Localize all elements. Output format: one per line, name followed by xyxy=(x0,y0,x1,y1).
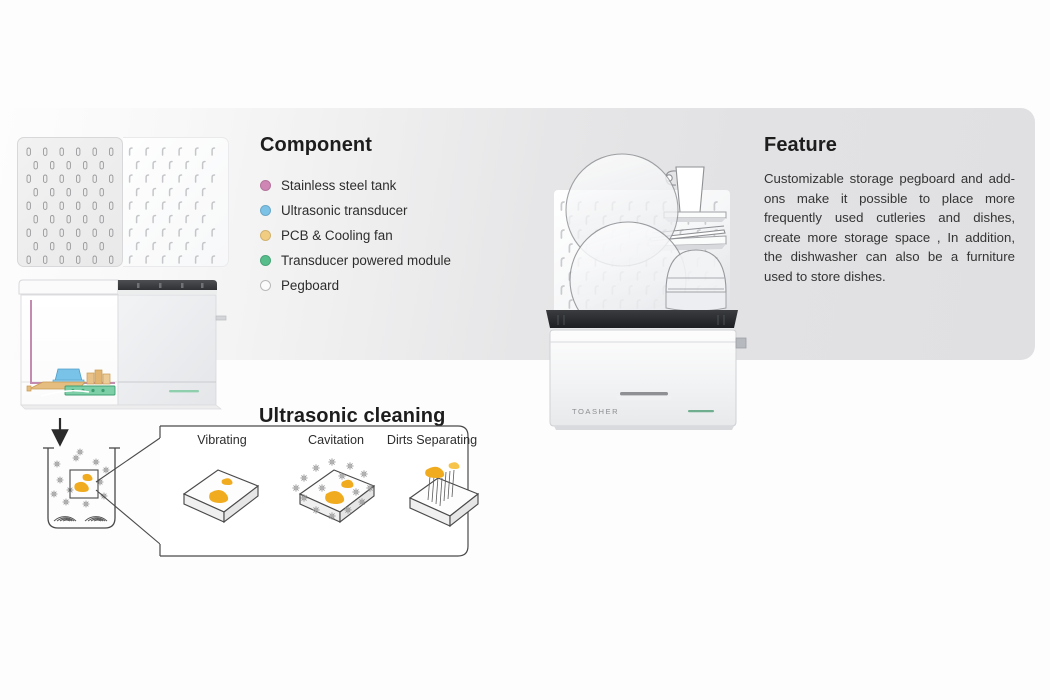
component-title: Component xyxy=(260,134,500,157)
stage-label-vibrating: Vibrating xyxy=(197,433,246,447)
legend-item-pcb-cooling-fan[interactable]: PCB & Cooling fan xyxy=(260,223,500,248)
side-handle xyxy=(736,338,746,348)
legend-dot-icon xyxy=(260,255,271,266)
pegboard-slotted xyxy=(17,137,123,267)
pegboard-hook-pins xyxy=(123,138,229,268)
feature-block: Feature Customizable storage pegboard an… xyxy=(764,134,1015,287)
status-indicator xyxy=(688,410,714,412)
cavitation-bubbles-icon xyxy=(51,449,110,508)
legend-item-ultrasonic-transducer[interactable]: Ultrasonic transducer xyxy=(260,198,500,223)
dishwasher-cross-section xyxy=(17,278,229,410)
legend-label: Ultrasonic transducer xyxy=(281,203,408,218)
presentation-board: Component Stainless steel tank Ultrasoni… xyxy=(0,0,1050,700)
ultrasonic-cleaning-diagram: Vibrating Cavitation Dirts Separating xyxy=(30,418,480,568)
legend-dot-icon xyxy=(260,280,271,291)
legend-label: Pegboard xyxy=(281,278,339,293)
component-legend: Component Stainless steel tank Ultrasoni… xyxy=(260,134,500,298)
legend-label: Transducer powered module xyxy=(281,253,451,268)
feature-body: Customizable storage pegboard and add-on… xyxy=(764,169,1015,287)
legend-label: Stainless steel tank xyxy=(281,178,396,193)
legend-item-transducer-powered-module[interactable]: Transducer powered module xyxy=(260,248,500,273)
door-slot xyxy=(620,392,668,395)
brand-label: TOASHER xyxy=(572,407,619,416)
legend-item-stainless-steel-tank[interactable]: Stainless steel tank xyxy=(260,173,500,198)
product-render: TOASHER xyxy=(536,132,748,430)
ultrasonic-waves-icon xyxy=(54,517,107,521)
stage-label-cavitation: Cavitation xyxy=(308,433,364,447)
pegboard-slot-holes xyxy=(18,138,124,268)
legend-dot-icon xyxy=(260,205,271,216)
feature-title: Feature xyxy=(764,134,1015,157)
legend-dot-icon xyxy=(260,180,271,191)
bowl xyxy=(666,250,726,311)
legend-label: PCB & Cooling fan xyxy=(281,228,393,243)
pegboard-illustration xyxy=(17,137,229,267)
pegboard-hooks xyxy=(123,137,229,267)
legend-dot-icon xyxy=(260,230,271,241)
stage-label-dirts-separating: Dirts Separating xyxy=(387,433,477,447)
legend-item-pegboard[interactable]: Pegboard xyxy=(260,273,500,298)
